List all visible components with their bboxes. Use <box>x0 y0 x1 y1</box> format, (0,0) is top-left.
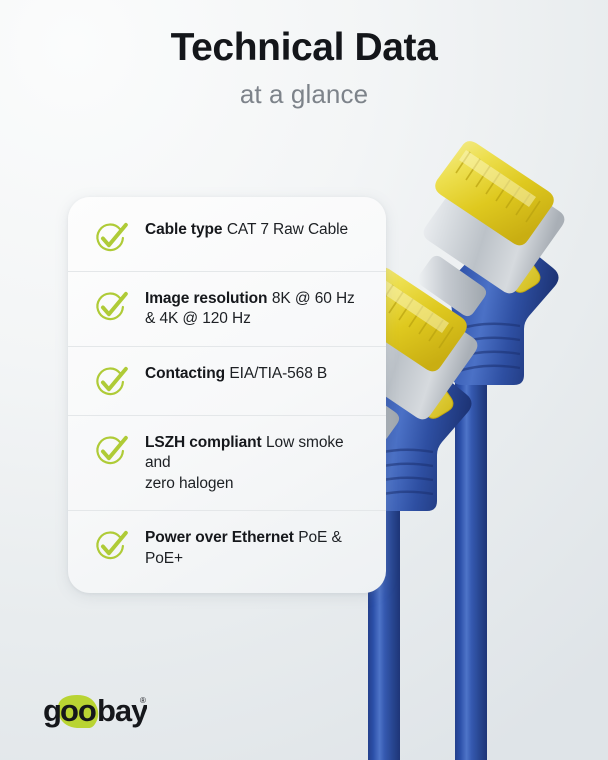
green-check-circle-icon <box>94 365 128 399</box>
feature-item: Contacting EIA/TIA-568 B <box>68 346 386 415</box>
feature-title: Cable type <box>145 221 222 238</box>
feature-title: Power over Ethernet <box>145 529 294 546</box>
goobay-wordmark-g: g <box>43 693 61 728</box>
feature-description: CAT 7 Raw Cable <box>227 221 348 238</box>
feature-text: Power over Ethernet PoE & PoE+ <box>145 527 368 569</box>
feature-title: Contacting <box>145 365 225 382</box>
page-subtitle: at a glance <box>0 79 608 110</box>
rj45-connector-back <box>418 141 564 760</box>
green-check-circle-icon <box>94 434 128 468</box>
feature-title: LSZH compliant <box>145 434 262 451</box>
feature-item: LSZH compliant Low smoke and zero haloge… <box>68 415 386 510</box>
goobay-wordmark-oo: oo <box>60 693 96 728</box>
feature-title: Image resolution <box>145 290 267 307</box>
feature-item: Image resolution 8K @ 60 Hz & 4K @ 120 H… <box>68 271 386 346</box>
feature-text: Cable type CAT 7 Raw Cable <box>145 219 348 240</box>
page-header: Technical Data at a glance <box>0 26 608 110</box>
technical-data-card: Cable type CAT 7 Raw Cable Image resolut… <box>68 197 386 593</box>
feature-text: Contacting EIA/TIA-568 B <box>145 363 327 384</box>
page-title: Technical Data <box>0 26 608 70</box>
green-check-circle-icon <box>94 290 128 324</box>
green-check-circle-icon <box>94 529 128 563</box>
feature-text: LSZH compliant Low smoke and zero haloge… <box>145 432 368 494</box>
goobay-logo: g oo bay ® <box>43 690 147 728</box>
registered-trademark-mark: ® <box>140 696 146 705</box>
feature-item: Power over Ethernet PoE & PoE+ <box>68 510 386 585</box>
goobay-logo-mark: g oo bay ® <box>43 690 147 728</box>
feature-item: Cable type CAT 7 Raw Cable <box>68 203 386 271</box>
feature-description: EIA/TIA-568 B <box>229 365 327 382</box>
green-check-circle-icon <box>94 221 128 255</box>
feature-text: Image resolution 8K @ 60 Hz & 4K @ 120 H… <box>145 288 368 330</box>
